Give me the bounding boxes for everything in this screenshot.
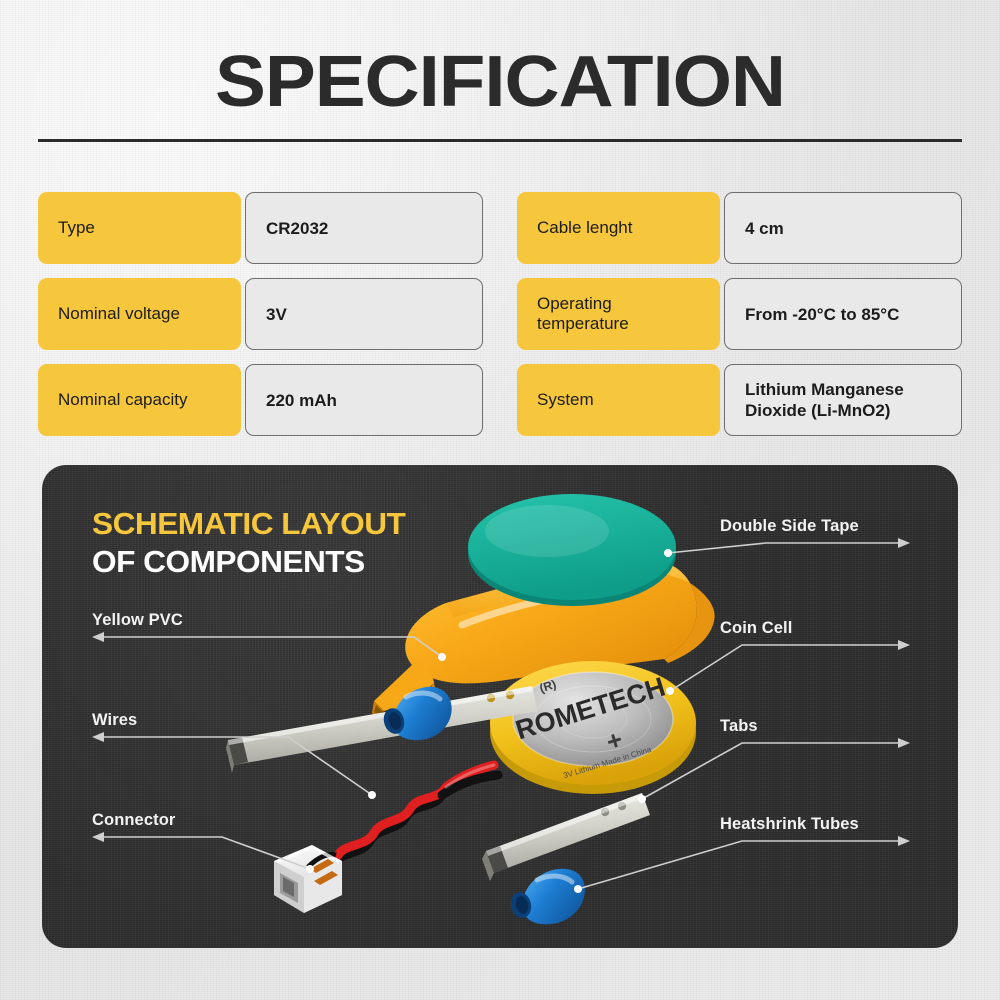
spec-value: 220 mAh (245, 364, 483, 436)
spec-value: 4 cm (724, 192, 962, 264)
callout-label-yellow-pvc: Yellow PVC (92, 611, 183, 630)
spec-value: Lithium Manganese Dioxide (Li-MnO2) (724, 364, 962, 436)
schematic-heading: SCHEMATIC LAYOUT OF COMPONENTS (92, 507, 399, 579)
spec-value: 3V (245, 278, 483, 350)
spec-label: Operating temperature (517, 278, 720, 350)
callout-label-heatshrink-tubes: Heatshrink Tubes (720, 815, 859, 834)
spec-value: From -20°C to 85°C (724, 278, 962, 350)
spec-row-nominal-voltage: Nominal voltage 3V (38, 278, 483, 350)
callout-label-coin-cell: Coin Cell (720, 619, 792, 638)
callout-label-wires: Wires (92, 711, 137, 730)
spec-row-operating-temperature: Operating temperature From -20°C to 85°C (517, 278, 962, 350)
spec-value: CR2032 (245, 192, 483, 264)
spec-label: Nominal voltage (38, 278, 241, 350)
schematic-heading-line1: SCHEMATIC LAYOUT (92, 507, 405, 541)
callout-label-connector: Connector (92, 811, 175, 830)
spec-label: System (517, 364, 720, 436)
spec-row-nominal-capacity: Nominal capacity 220 mAh (38, 364, 483, 436)
spec-label: Type (38, 192, 241, 264)
schematic-heading-line2: OF COMPONENTS (92, 545, 405, 579)
spec-row-system: System Lithium Manganese Dioxide (Li-MnO… (517, 364, 962, 436)
spec-row-cable-length: Cable lenght 4 cm (517, 192, 962, 264)
spec-label: Cable lenght (517, 192, 720, 264)
specification-table: Type CR2032 Cable lenght 4 cm Nominal vo… (38, 192, 962, 436)
spec-row-type: Type CR2032 (38, 192, 483, 264)
callout-label-double-side-tape: Double Side Tape (720, 517, 859, 536)
schematic-panel: SCHEMATIC LAYOUT OF COMPONENTS (42, 465, 958, 948)
callout-label-tabs: Tabs (720, 717, 758, 736)
page-title: SPECIFICATION (0, 46, 1000, 118)
title-divider (38, 139, 962, 142)
specification-infographic: SPECIFICATION Type CR2032 Cable lenght 4… (0, 0, 1000, 1000)
spec-label: Nominal capacity (38, 364, 241, 436)
